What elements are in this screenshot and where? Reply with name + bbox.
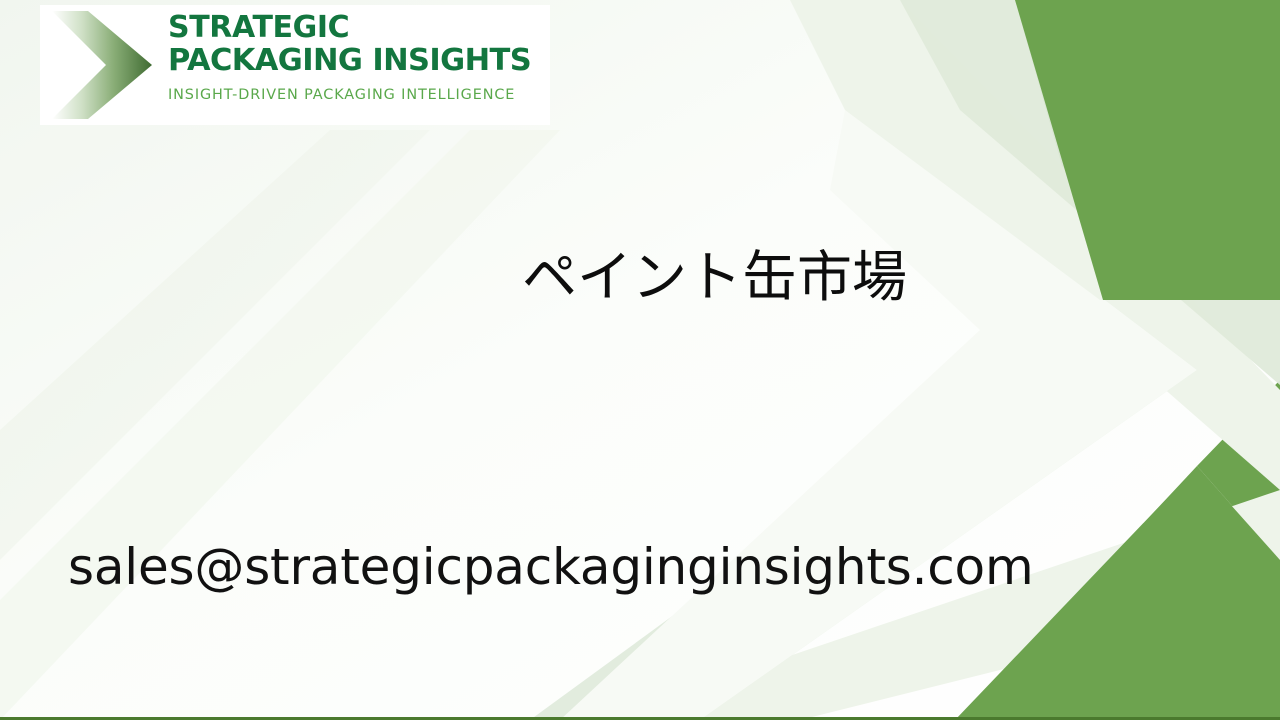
brand-name-line-1: STRATEGIC xyxy=(168,11,550,44)
brand-logo-text: STRATEGIC PACKAGING INSIGHTS INSIGHT-DRI… xyxy=(168,11,550,103)
contact-email[interactable]: sales@strategicpackaginginsights.com xyxy=(68,536,1033,598)
slide-canvas: STRATEGIC PACKAGING INSIGHTS INSIGHT-DRI… xyxy=(0,0,1280,720)
brand-name-line-2: PACKAGING INSIGHTS xyxy=(168,44,550,77)
page-title: ペイント缶市場 xyxy=(522,244,907,310)
brand-tagline: INSIGHT-DRIVEN PACKAGING INTELLIGENCE xyxy=(168,87,550,103)
brand-logo: STRATEGIC PACKAGING INSIGHTS INSIGHT-DRI… xyxy=(40,5,550,125)
chevron-right-icon xyxy=(40,5,165,125)
